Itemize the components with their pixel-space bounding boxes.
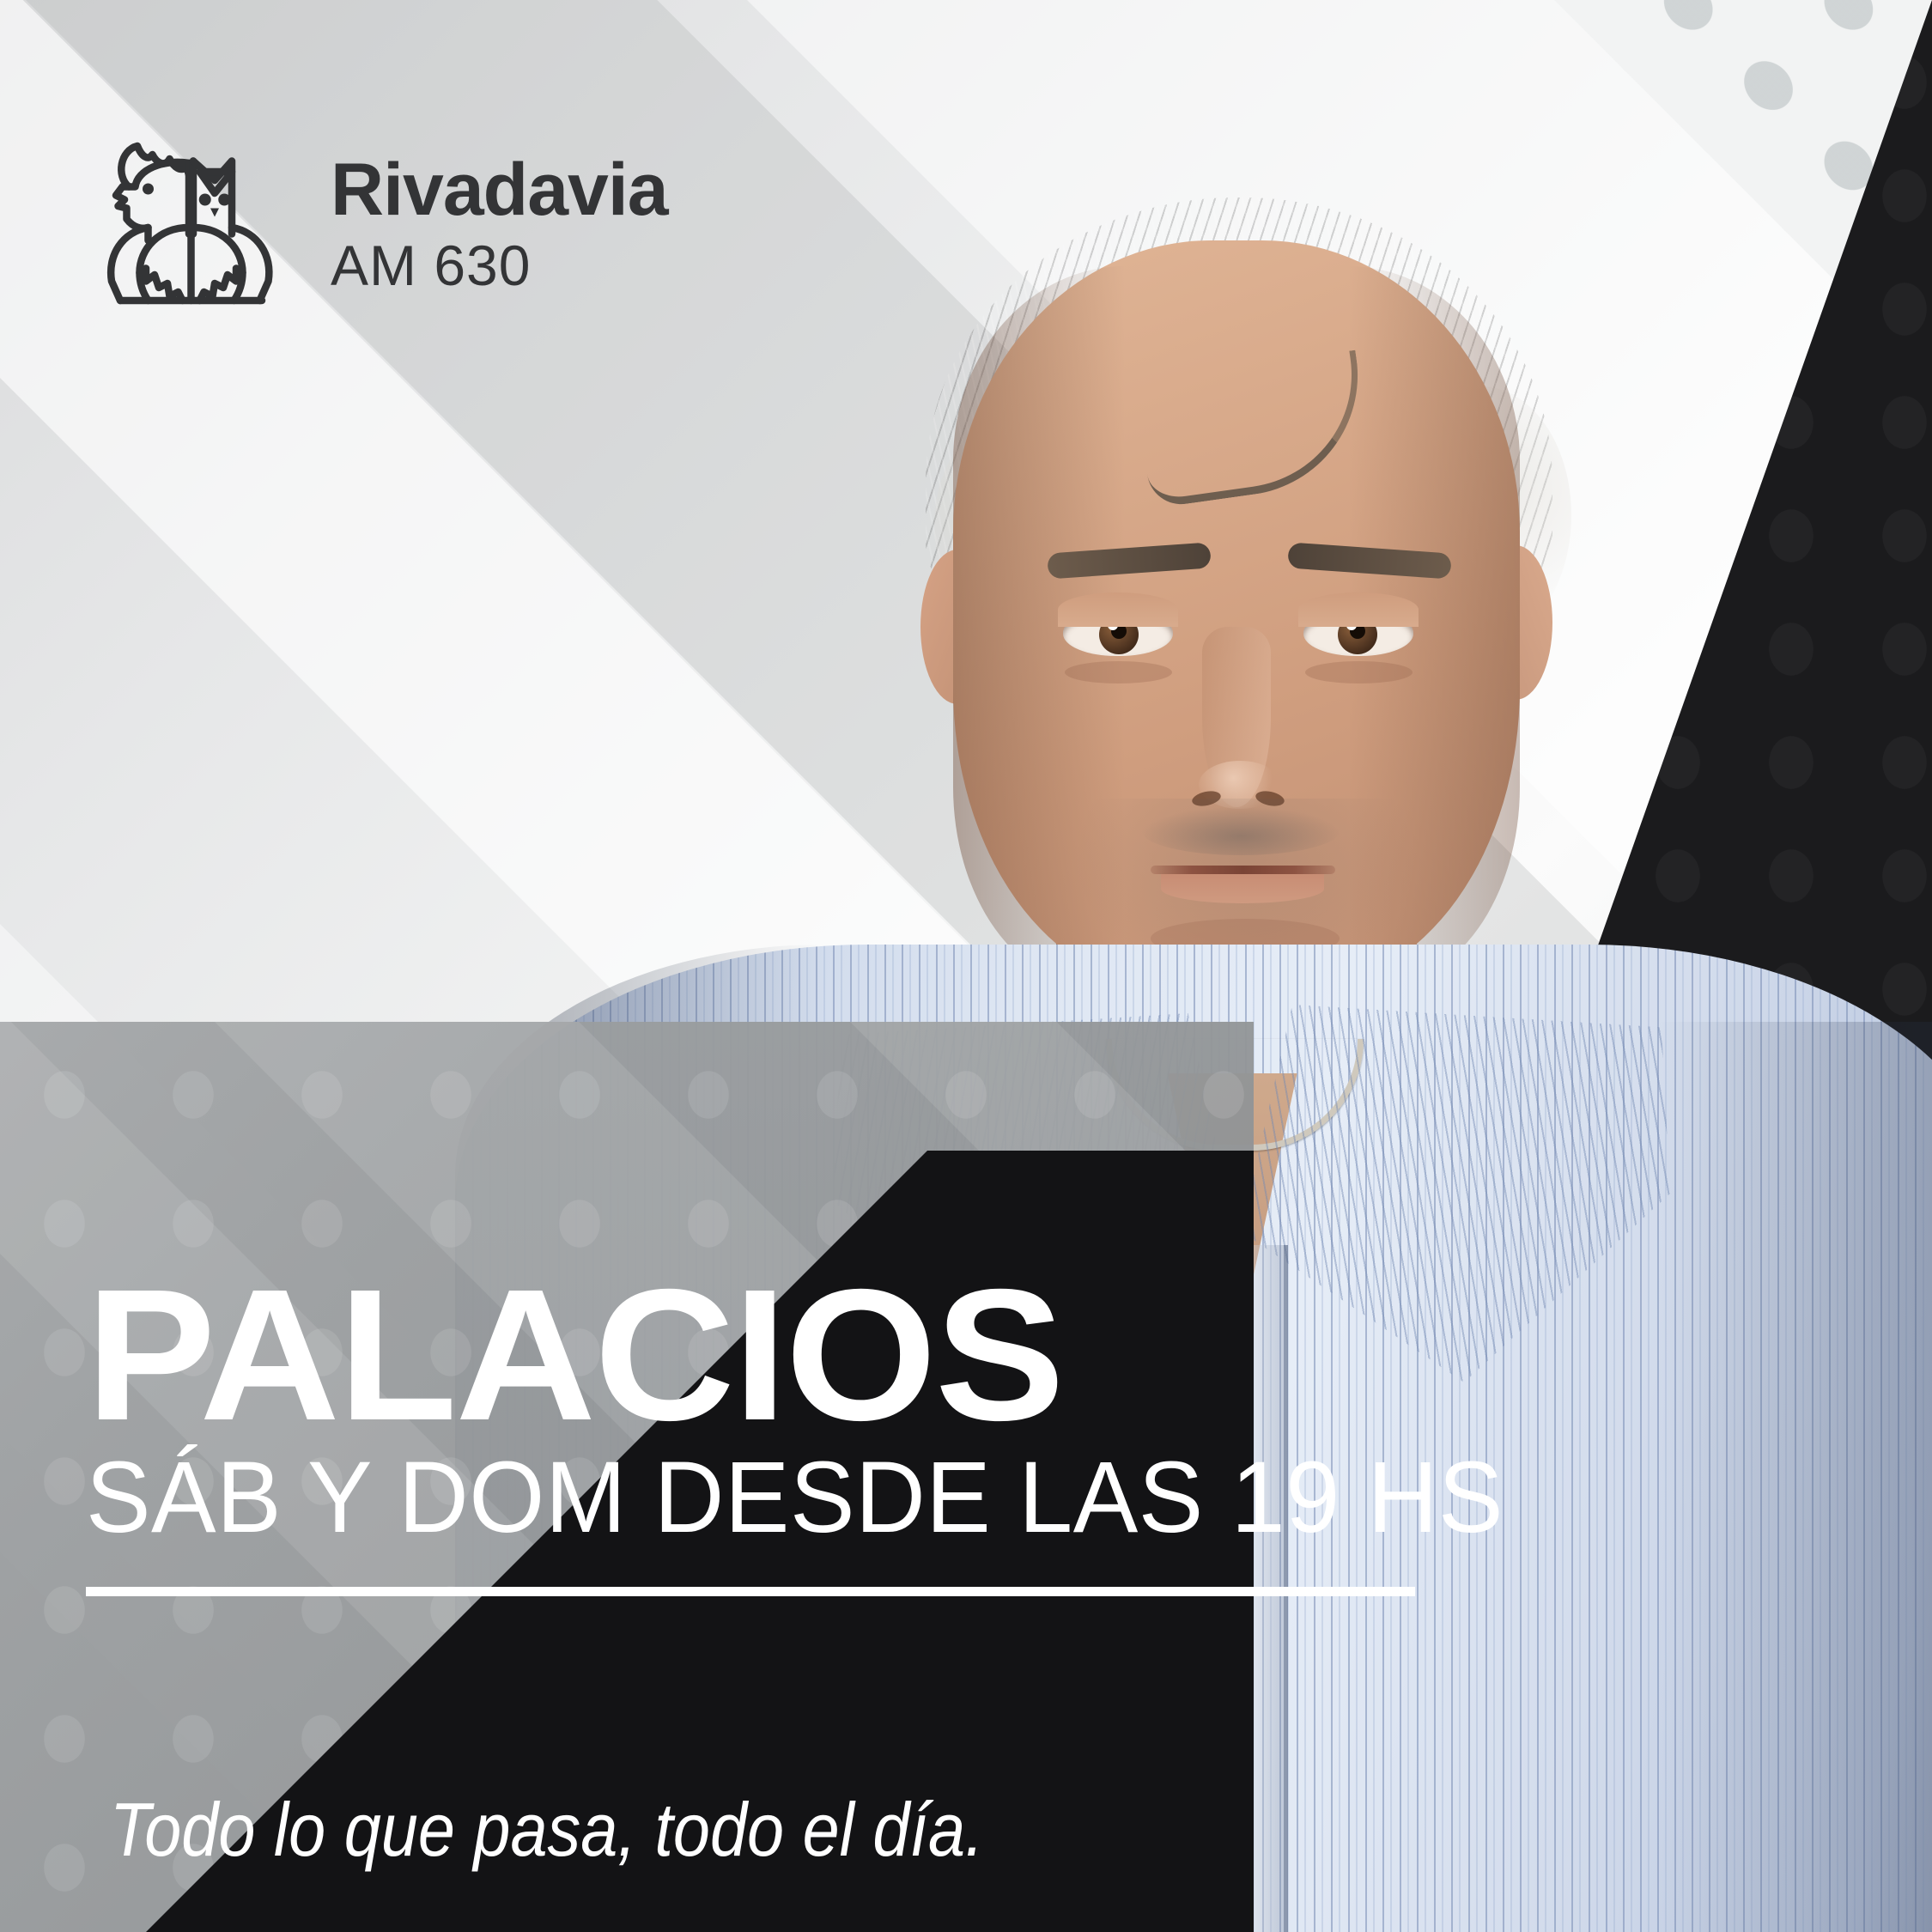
station-frequency: AM 630: [331, 237, 668, 294]
promo-poster: Rivadavia AM 630 PALACIOS SÁB Y DOM DESD…: [0, 0, 1932, 1932]
divider-rule: [86, 1587, 1415, 1596]
station-tagline: Todo lo que pasa, todo el día.: [110, 1786, 984, 1874]
rooster-owl-icon: [82, 116, 296, 331]
lower-lip: [1161, 874, 1324, 903]
shirt-shadow: [1657, 1022, 1932, 1932]
under-eye-left: [1065, 661, 1172, 683]
station-logo[interactable]: Rivadavia AM 630: [82, 116, 668, 331]
mouth: [1151, 866, 1335, 874]
eyelid-left: [1058, 592, 1178, 627]
show-info: PALACIOS SÁB Y DOM DESDE LAS 19 HS: [86, 1277, 1597, 1546]
show-schedule: SÁB Y DOM DESDE LAS 19 HS: [86, 1449, 1537, 1546]
show-title: PALACIOS: [86, 1277, 1657, 1434]
station-name: Rivadavia: [331, 153, 668, 227]
under-eye-right: [1305, 661, 1413, 683]
moustache-shadow: [1142, 807, 1340, 855]
eyelid-right: [1298, 592, 1419, 627]
